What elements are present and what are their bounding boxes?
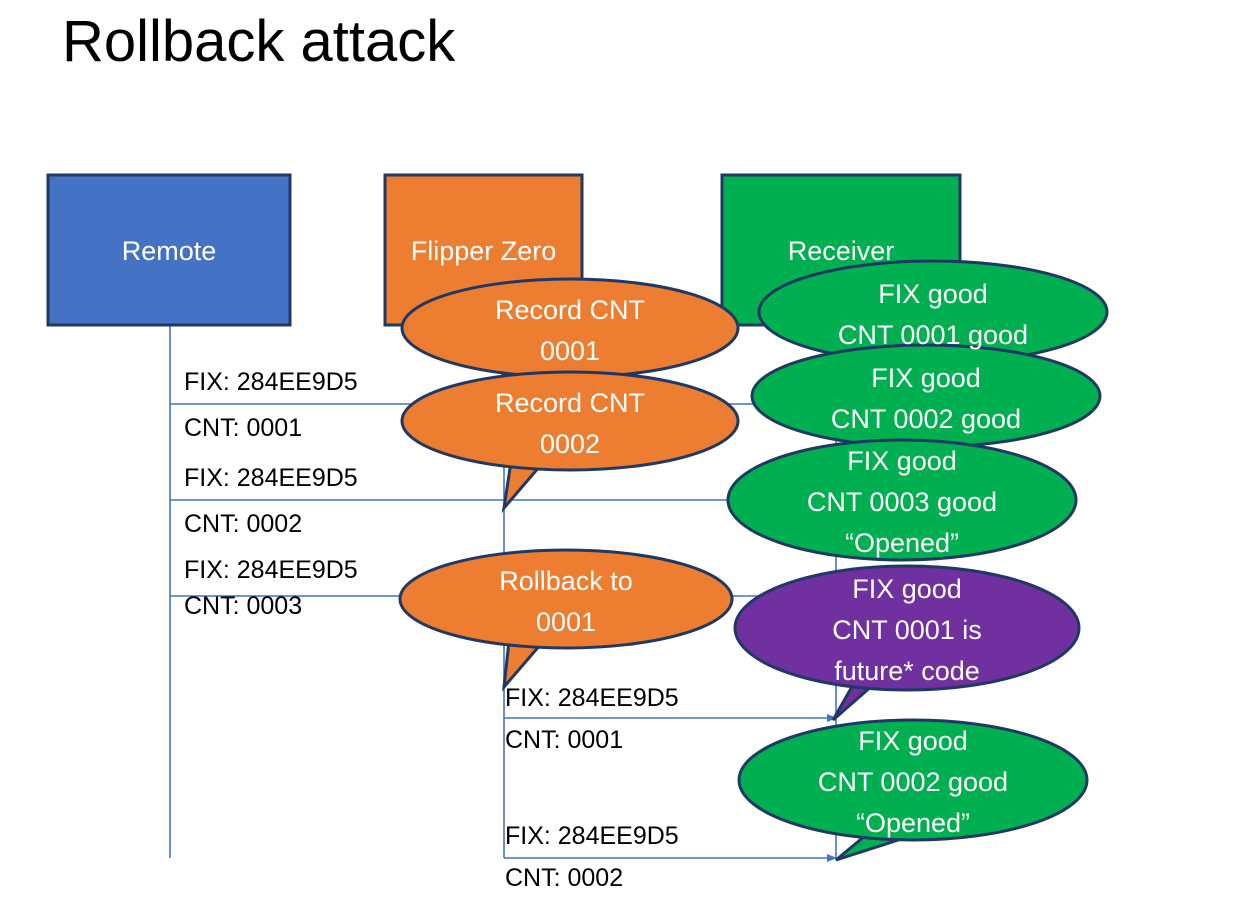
callout-flipper-f3[interactable] bbox=[400, 550, 732, 687]
callout-flipper-f2[interactable] bbox=[402, 372, 738, 508]
callout-receiver-r2[interactable] bbox=[752, 345, 1100, 447]
callout-bubbles-layer bbox=[0, 0, 1233, 898]
slide-canvas: Rollback attack FIX: 284EE9D5 CNT: 000 bbox=[0, 0, 1233, 898]
callout-receiver-r3[interactable] bbox=[728, 440, 1076, 560]
callout-receiver-r4[interactable] bbox=[735, 566, 1079, 720]
callout-receiver-r5[interactable] bbox=[739, 720, 1087, 860]
